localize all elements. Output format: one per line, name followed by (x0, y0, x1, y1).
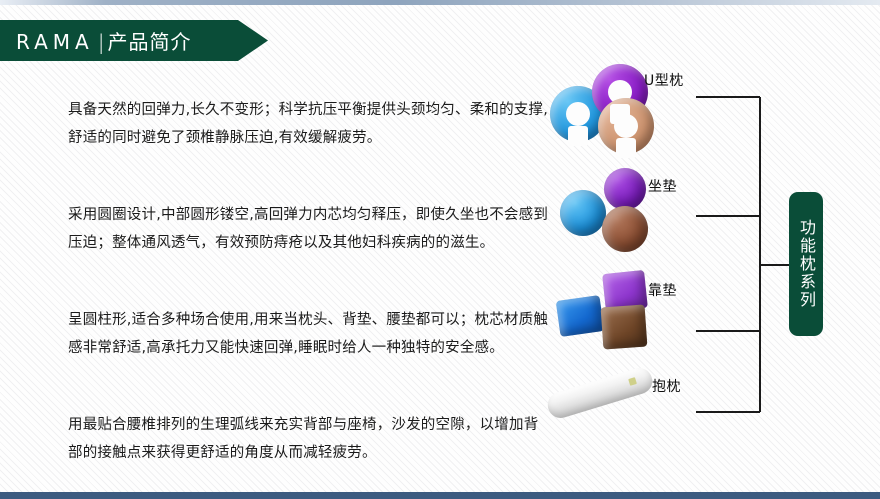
page-title: 产品简介 (107, 30, 191, 54)
back-cushion-blue-icon (556, 295, 605, 337)
description-paragraph-4: 用最贴合腰椎排列的生理弧线来充实背部与座椅，沙发的空隙，以增加背部的接触点来获得… (68, 411, 548, 467)
product-row-seat-cushion: 坐垫 (548, 168, 728, 268)
product-label-u-pillow: U型枕 (644, 70, 684, 90)
series-tag: 功能枕系列 (789, 192, 823, 336)
product-label-back-cushion: 靠垫 (648, 280, 677, 300)
product-row-bolster-pillow: 抱枕 (540, 368, 720, 468)
bolster-pillow-white-icon (545, 365, 656, 421)
description-paragraph-3: 呈圆柱形,适合多种场合使用,用来当枕头、背垫、腰垫都可以；枕芯材质触感非常舒适,… (68, 306, 548, 411)
back-cushion-brown-icon (601, 305, 648, 350)
product-thumbnails-seat-cushion (548, 168, 658, 268)
seat-cushion-brown-icon (602, 206, 648, 252)
bolster-tag-icon (628, 377, 637, 386)
product-label-seat-cushion: 坐垫 (648, 176, 677, 196)
description-paragraph-1: 具备天然的回弹力,长久不变形；科学抗压平衡提供头颈均匀、柔和的支撑,舒适的同时避… (68, 96, 548, 201)
banner-title: RAMA|产品简介 (0, 26, 191, 55)
seat-cushion-blue-icon (560, 190, 606, 236)
brand-name: RAMA (16, 30, 94, 54)
series-tag-label: 功能枕系列 (798, 219, 814, 309)
top-chrome-bar (0, 0, 880, 5)
description-paragraph-2: 采用圆圈设计,中部圆形镂空,高回弹力内芯均匀释压，即使久坐也不会感到压迫；整体通… (68, 201, 548, 306)
seat-cushion-purple-icon (604, 168, 646, 210)
slide-canvas: RAMA|产品简介 具备天然的回弹力,长久不变形；科学抗压平衡提供头颈均匀、柔和… (0, 0, 880, 499)
bottom-chrome-bar (0, 492, 880, 499)
product-row-back-cushion: 靠垫 (548, 272, 728, 372)
product-thumbnails-back-cushion (548, 272, 658, 372)
banner-separator: | (94, 30, 108, 54)
product-thumbnails-bolster-pillow (540, 368, 650, 468)
product-label-bolster-pillow: 抱枕 (652, 376, 681, 396)
description-list: 具备天然的回弹力,长久不变形；科学抗压平衡提供头颈均匀、柔和的支撑,舒适的同时避… (68, 96, 548, 467)
product-thumbnails-u-pillow (548, 62, 658, 162)
product-row-u-pillow: U型枕 (548, 62, 728, 162)
header-banner: RAMA|产品简介 (0, 20, 268, 61)
